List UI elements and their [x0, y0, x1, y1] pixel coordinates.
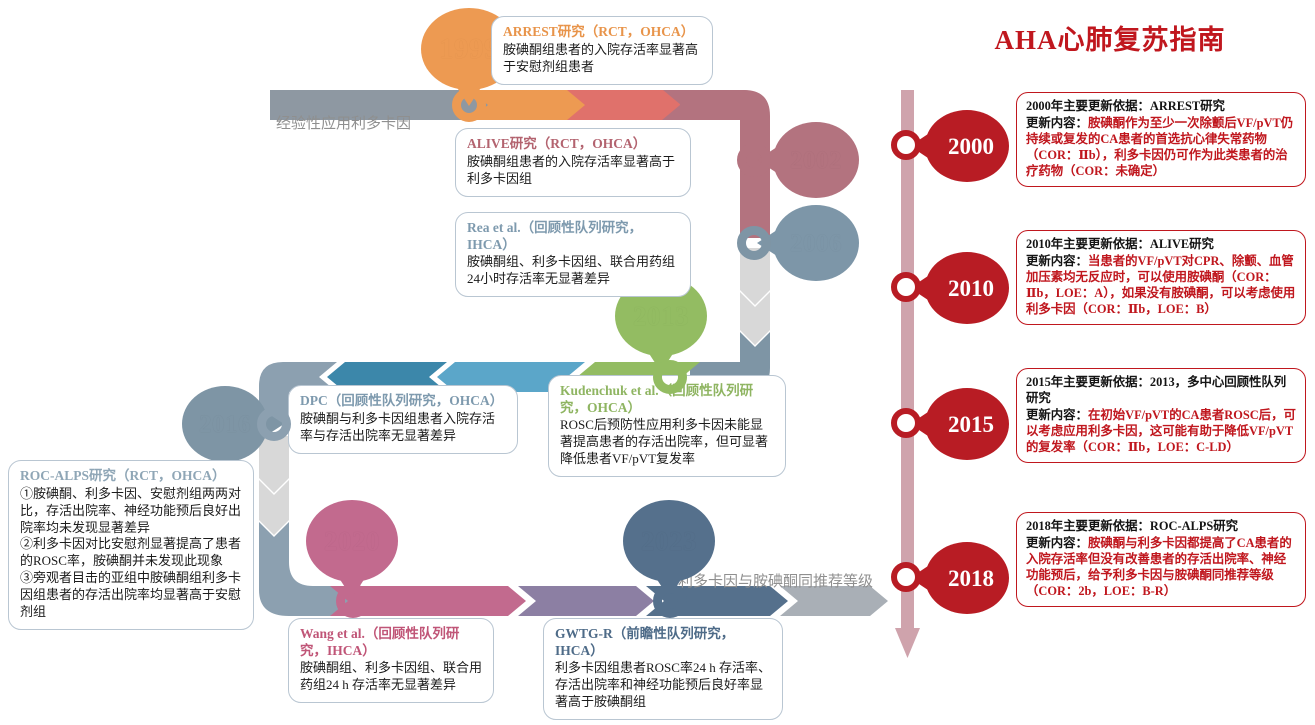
- card-rea[interactable]: Rea et al.（回顾性队列研究，IHCA） 胺碘酮组、利多卡因组、联合用药…: [455, 212, 691, 297]
- aha-year-node-2015-label: 2015: [940, 413, 994, 436]
- aha-year-node-2018-label: 2018: [940, 567, 994, 590]
- aha-card-2015-basis: 2015年主要更新依据：2013，多中心回顾性队列研究: [1026, 375, 1296, 407]
- card-arrest-title: ARREST研究（RCT，OHCA）: [503, 24, 701, 41]
- card-rea-title: Rea et al.（回顾性队列研究，IHCA）: [467, 220, 679, 253]
- aha-year-node-2000-label: 2000: [940, 135, 994, 158]
- aha-card-2010-basis: 2010年主要更新依据：ALIVE研究: [1026, 237, 1296, 253]
- card-gwtg-r[interactable]: GWTG-R（前瞻性队列研究，IHCA） 利多卡因组患者ROSC率24 h 存活…: [543, 618, 783, 720]
- card-arrest[interactable]: ARREST研究（RCT，OHCA） 胺碘酮组患者的入院存活率显著高于安慰剂组患…: [491, 16, 713, 85]
- aha-card-2015-lead: 更新内容：: [1026, 408, 1088, 422]
- aha-card-2018[interactable]: 2018年主要更新依据：ROC-ALPS研究 更新内容：胺碘酮与利多卡因都提高了…: [1016, 512, 1306, 607]
- track-ring-2006: [737, 226, 771, 260]
- aha-card-2018-content: 更新内容：胺碘酮与利多卡因都提高了CA患者的入院存活率但没有改善患者的存活出院率…: [1026, 535, 1296, 600]
- track-ring-1999: [452, 88, 486, 122]
- aha-card-2000[interactable]: 2000年主要更新依据：ARREST研究 更新内容：胺碘酮作为至少一次除颤后VF…: [1016, 92, 1306, 187]
- card-wang-body: 胺碘酮组、利多卡因组、联合用药组24 h 存活率无显著差异: [300, 660, 482, 694]
- track-ring-2023: [653, 584, 687, 618]
- aha-card-2000-content: 更新内容：胺碘酮作为至少一次除颤后VF/pVT仍持续或复发的CA患者的首选抗心律…: [1026, 115, 1296, 180]
- aha-year-node-2010-label: 2010: [940, 277, 994, 300]
- aha-card-2015[interactable]: 2015年主要更新依据：2013，多中心回顾性队列研究 更新内容：在初始VF/p…: [1016, 368, 1306, 463]
- year-node-2006[interactable]: 2006: [773, 205, 859, 281]
- card-dpc[interactable]: DPC（回顾性队列研究，OHCA） 胺碘酮与利多卡因组患者入院存活率与存活出院率…: [288, 385, 518, 454]
- card-dpc-body: 胺碘酮与利多卡因组患者入院存活率与存活出院率无显著差异: [300, 411, 506, 445]
- aha-card-2015-content: 更新内容：在初始VF/pVT的CA患者ROSC后，可以考虑应用利多卡因，这可能有…: [1026, 407, 1296, 455]
- aha-card-2018-basis: 2018年主要更新依据：ROC-ALPS研究: [1026, 519, 1296, 535]
- aha-year-node-2018[interactable]: 2018: [925, 542, 1009, 614]
- aha-card-2010[interactable]: 2010年主要更新依据：ALIVE研究 更新内容：当患者的VF/pVT对CPR、…: [1016, 230, 1306, 325]
- year-node-2020[interactable]: 2020: [306, 500, 398, 582]
- card-dpc-title: DPC（回顾性队列研究，OHCA）: [300, 393, 506, 410]
- aha-guidelines-title: AHA心肺复苏指南: [915, 18, 1305, 57]
- track-ring-2016: [257, 407, 291, 441]
- aha-year-node-2015[interactable]: 2015: [925, 388, 1009, 460]
- card-alive[interactable]: ALIVE研究（RCT，OHCA） 胺碘酮组患者的入院存活率显著高于利多卡因组: [455, 128, 691, 197]
- year-node-1999-label: 1999: [439, 35, 499, 64]
- card-gwtg-r-title: GWTG-R（前瞻性队列研究，IHCA）: [555, 626, 771, 659]
- card-roc-alps[interactable]: ROC-ALPS研究（RCT，OHCA） ①胺碘酮、利多卡因、安慰剂组两两对比，…: [8, 460, 254, 630]
- year-node-2023[interactable]: 2023: [623, 500, 715, 582]
- year-node-2016-label: 2016: [199, 412, 251, 437]
- aha-card-2000-lead: 更新内容：: [1026, 116, 1088, 130]
- year-node-2006-label: 2006: [790, 231, 842, 256]
- card-rea-body: 胺碘酮组、利多卡因组、联合用药组24小时存活率无显著差异: [467, 254, 679, 288]
- flow-chevron-gray-3: [259, 436, 289, 493]
- track-ring-2013: [653, 360, 687, 394]
- tail-recommendation-label: 利多卡因与胺碘酮同推荐等级: [678, 570, 873, 591]
- card-arrest-body: 胺碘酮组患者的入院存活率显著高于安慰剂组患者: [503, 42, 701, 76]
- aha-card-2010-lead: 更新内容：: [1026, 254, 1088, 268]
- aha-card-2018-lead: 更新内容：: [1026, 536, 1088, 550]
- aha-ring-2010: [891, 272, 921, 302]
- track-ring-2002: [737, 143, 771, 177]
- year-node-2020-label: 2020: [324, 528, 380, 555]
- year-node-2013-label: 2013: [633, 303, 689, 330]
- card-wang-title: Wang et al.（回顾性队列研究，IHCA）: [300, 626, 482, 659]
- aha-ring-2000: [891, 130, 921, 160]
- flow-arrow-purple: [518, 586, 654, 616]
- year-node-2002-label: 2002: [790, 148, 842, 173]
- card-alive-body: 胺碘酮组患者的入院存活率显著高于利多卡因组: [467, 154, 679, 188]
- empiric-lidocaine-label: 经验性应用利多卡因: [276, 112, 411, 133]
- card-roc-alps-body: ①胺碘酮、利多卡因、安慰剂组两两对比，存活出院率、神经功能预后良好出院率均未发现…: [20, 486, 242, 621]
- year-node-2002[interactable]: 2002: [773, 122, 859, 198]
- card-wang[interactable]: Wang et al.（回顾性队列研究，IHCA） 胺碘酮组、利多卡因组、联合用…: [288, 618, 494, 703]
- aha-card-2010-content: 更新内容：当患者的VF/pVT对CPR、除颤、血管加压素均无反应时，可以使用胺碘…: [1026, 253, 1296, 318]
- infographic-canvas: 1999 2002 2006 2013 2016 2020 2023 经验性应用…: [0, 0, 1315, 725]
- card-roc-alps-title: ROC-ALPS研究（RCT，OHCA）: [20, 468, 242, 485]
- aha-year-node-2000[interactable]: 2000: [925, 110, 1009, 182]
- year-node-2023-label: 2023: [641, 528, 697, 555]
- track-ring-2020: [336, 584, 370, 618]
- aha-ring-2018: [891, 562, 921, 592]
- aha-ring-2015: [891, 408, 921, 438]
- aha-year-node-2010[interactable]: 2010: [925, 252, 1009, 324]
- card-alive-title: ALIVE研究（RCT，OHCA）: [467, 136, 679, 153]
- card-kudenchuk-body: ROSC后预防性应用利多卡因未能显著提高患者的存活出院率，但可显著降低患者VF/…: [560, 417, 774, 468]
- aha-card-2000-basis: 2000年主要更新依据：ARREST研究: [1026, 99, 1296, 115]
- card-gwtg-r-body: 利多卡因组患者ROSC率24 h 存活率、存活出院率和神经功能预后良好率显著高于…: [555, 660, 771, 711]
- year-node-2016[interactable]: 2016: [182, 386, 268, 462]
